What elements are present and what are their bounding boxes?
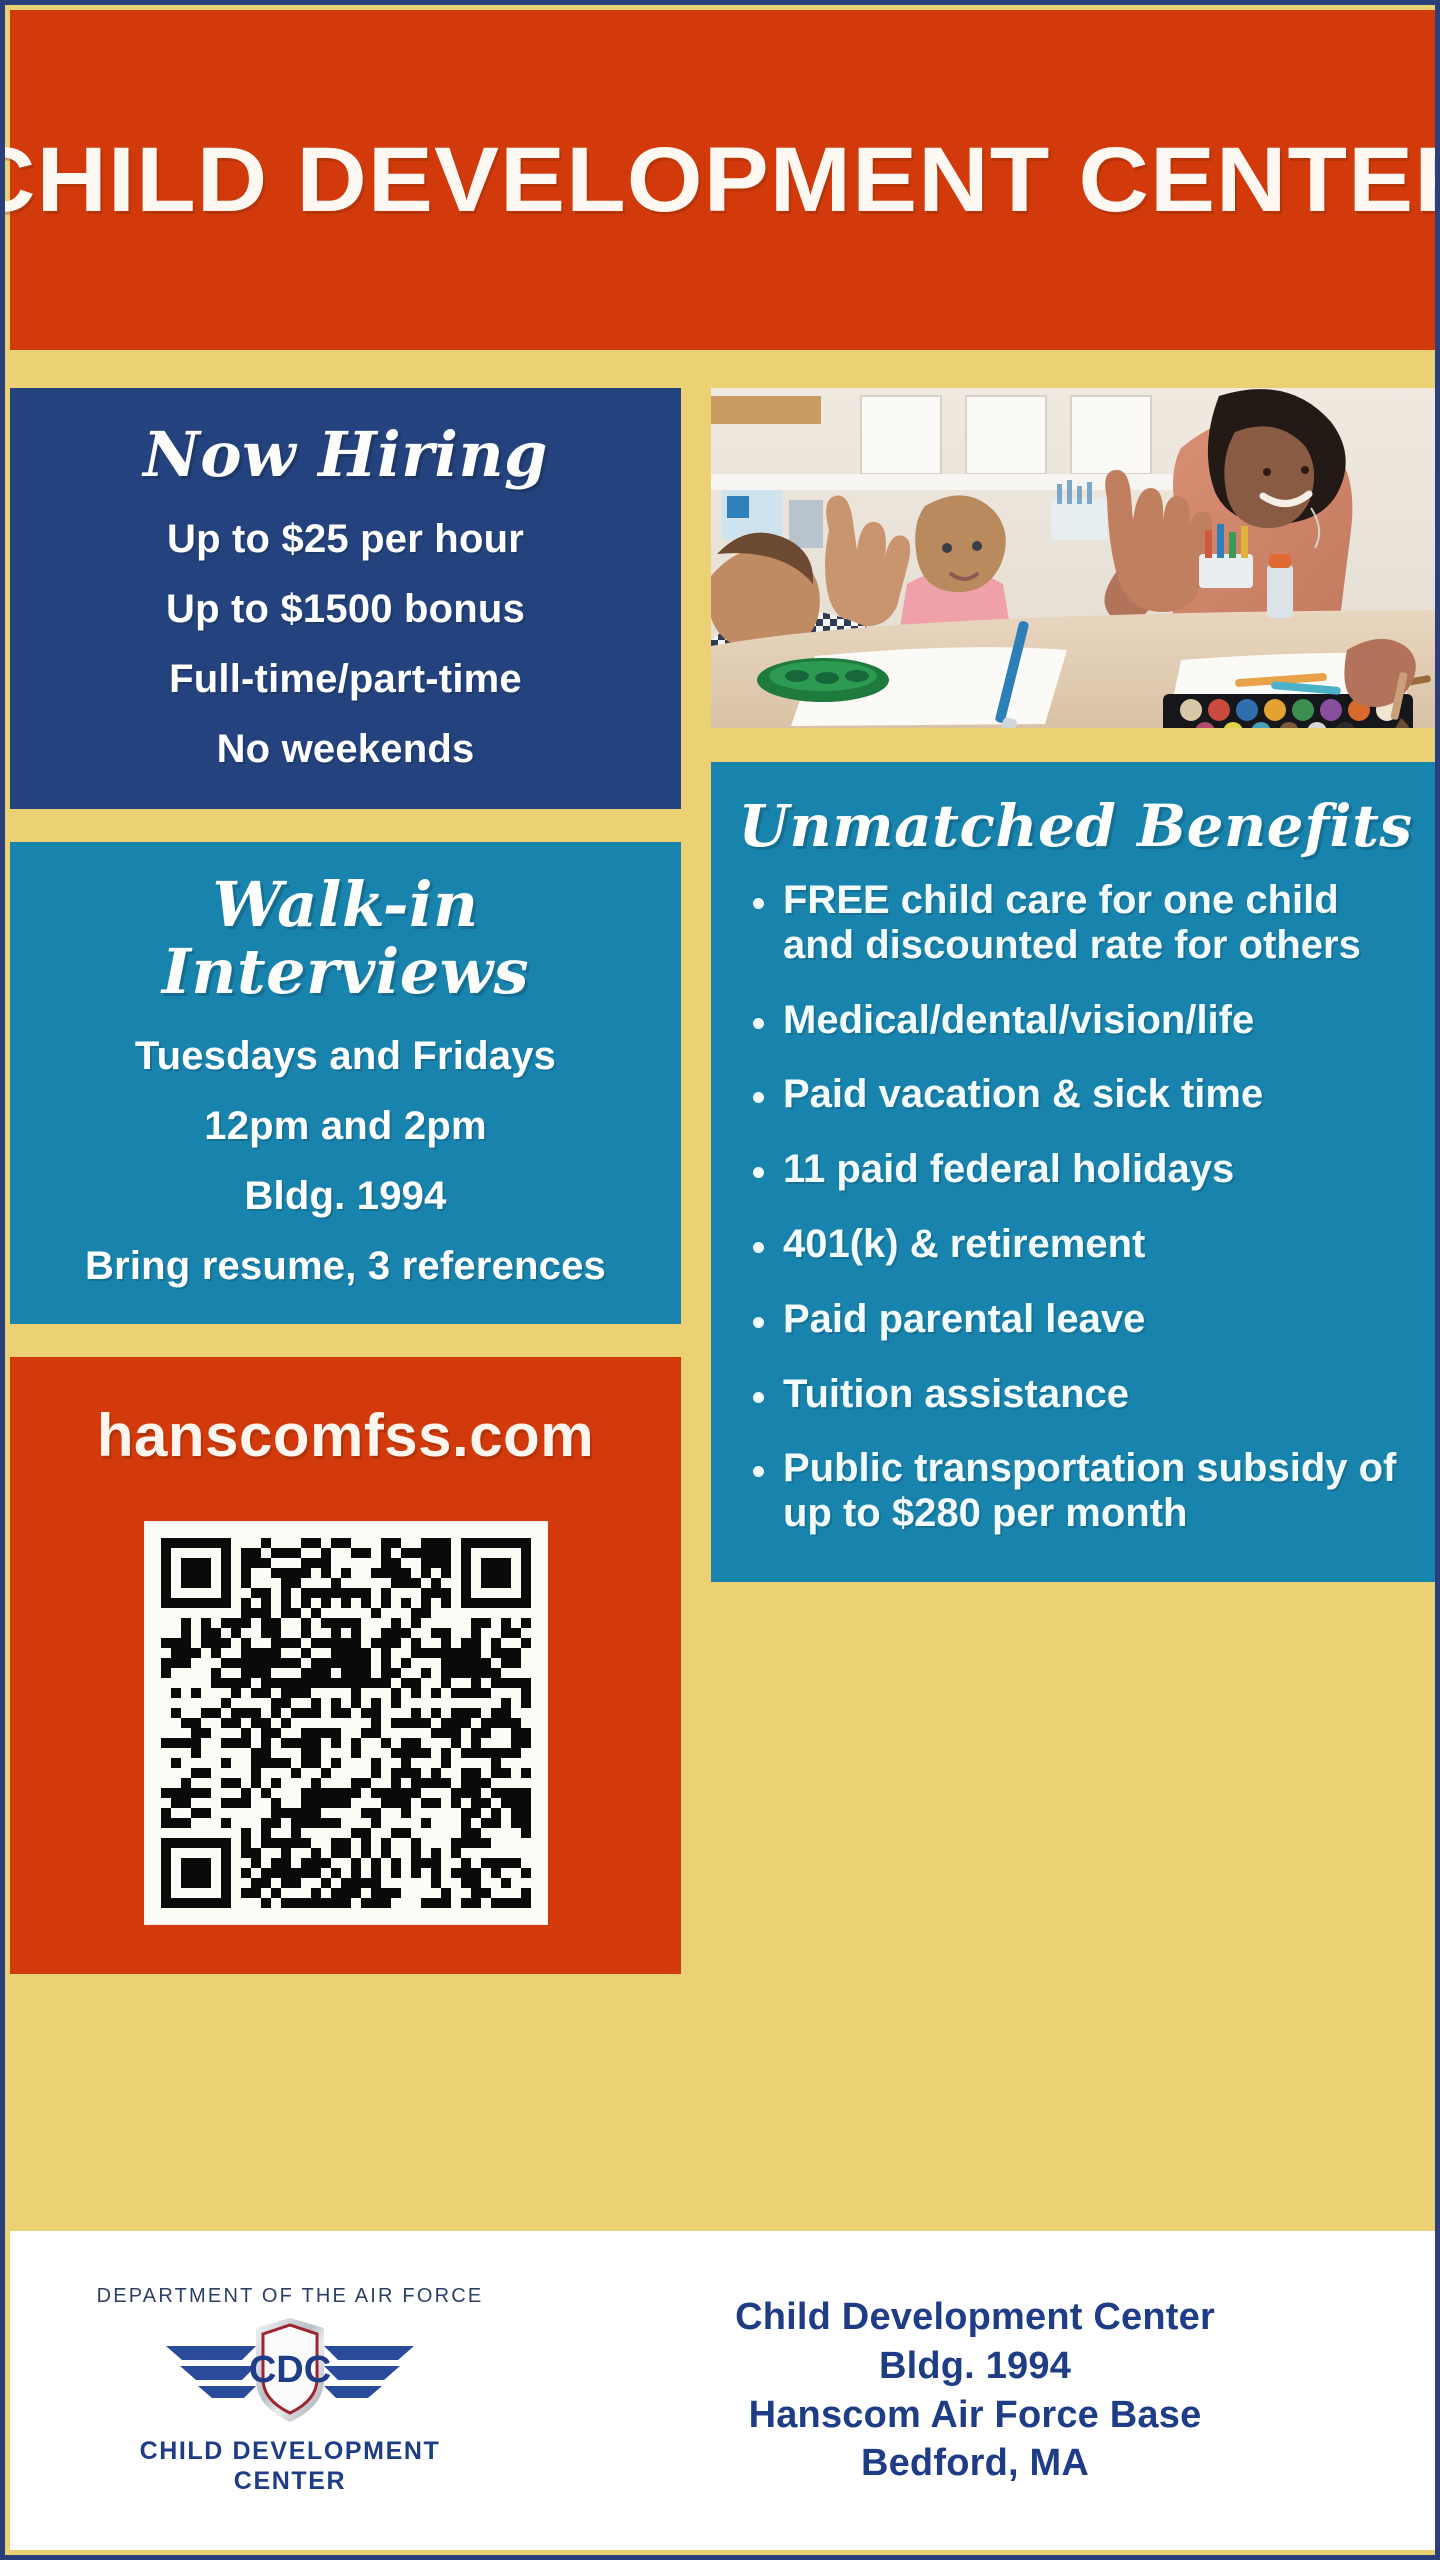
benefit-item: 11 paid federal holidays [745, 1147, 1416, 1192]
qr-code-wrap [32, 1522, 659, 1924]
qr-code[interactable] [145, 1522, 547, 1924]
address-line: Bldg. 1994 [570, 2342, 1380, 2391]
website-panel: hanscomfss.com [10, 1357, 681, 1974]
left-column: Now Hiring Up to $25 per hour Up to $150… [10, 388, 681, 1974]
header-banner: CHILD DEVELOPMENT CENTER [10, 10, 1440, 350]
benefits-list: FREE child care for one child and discou… [735, 878, 1416, 1536]
classroom-photo [711, 388, 1440, 728]
now-hiring-line: Full-time/part-time [32, 659, 659, 699]
walk-in-line: 12pm and 2pm [30, 1106, 661, 1146]
classroom-photo-art [711, 388, 1440, 728]
website-url[interactable]: hanscomfss.com [32, 1401, 659, 1470]
cdc-shield-wings-icon: CDC [160, 2310, 420, 2430]
now-hiring-line: No weekends [32, 729, 659, 769]
logo-shield-label: CDC [249, 2349, 331, 2391]
page-title: CHILD DEVELOPMENT CENTER [0, 128, 1440, 233]
walk-in-heading: Walk-in Interviews [30, 872, 661, 1006]
now-hiring-line: Up to $1500 bonus [32, 589, 659, 629]
now-hiring-heading: Now Hiring [32, 422, 659, 489]
footer: DEPARTMENT OF THE AIR FORCE [10, 2231, 1440, 2550]
benefit-item: FREE child care for one child and discou… [745, 878, 1416, 968]
benefit-item: Public transportation subsidy of up to $… [745, 1446, 1416, 1536]
benefit-item: Paid vacation & sick time [745, 1072, 1416, 1117]
now-hiring-line: Up to $25 per hour [32, 519, 659, 559]
logo-department-text: DEPARTMENT OF THE AIR FORCE [97, 2285, 484, 2308]
address-line: Hanscom Air Force Base [570, 2391, 1380, 2440]
flyer-root: CHILD DEVELOPMENT CENTER Now Hiring Up t… [0, 0, 1440, 2560]
address-line: Bedford, MA [570, 2439, 1380, 2488]
walk-in-line: Bldg. 1994 [30, 1176, 661, 1216]
walk-in-panel: Walk-in Interviews Tuesdays and Fridays … [10, 842, 681, 1324]
right-column: Unmatched Benefits FREE child care for o… [711, 388, 1440, 1582]
benefit-item: Paid parental leave [745, 1297, 1416, 1342]
walk-in-line: Tuesdays and Fridays [30, 1036, 661, 1076]
logo-name-text: CHILD DEVELOPMENT CENTER [140, 2436, 441, 2497]
footer-address: Child Development Center Bldg. 1994 Hans… [570, 2293, 1440, 2488]
benefit-item: Tuition assistance [745, 1372, 1416, 1417]
benefit-item: 401(k) & retirement [745, 1222, 1416, 1267]
logo-name-line2: CENTER [140, 2466, 441, 2497]
benefits-heading: Unmatched Benefits [735, 792, 1416, 860]
gutter-spacer [10, 809, 681, 842]
benefit-item: Medical/dental/vision/life [745, 998, 1416, 1043]
now-hiring-panel: Now Hiring Up to $25 per hour Up to $150… [10, 388, 681, 809]
benefits-panel: Unmatched Benefits FREE child care for o… [711, 762, 1440, 1582]
walk-in-line: Bring resume, 3 references [30, 1246, 661, 1286]
gutter-spacer [10, 1324, 681, 1357]
cdc-logo: DEPARTMENT OF THE AIR FORCE [10, 2285, 570, 2497]
logo-name-line1: CHILD DEVELOPMENT [140, 2436, 441, 2467]
address-line: Child Development Center [570, 2293, 1380, 2342]
